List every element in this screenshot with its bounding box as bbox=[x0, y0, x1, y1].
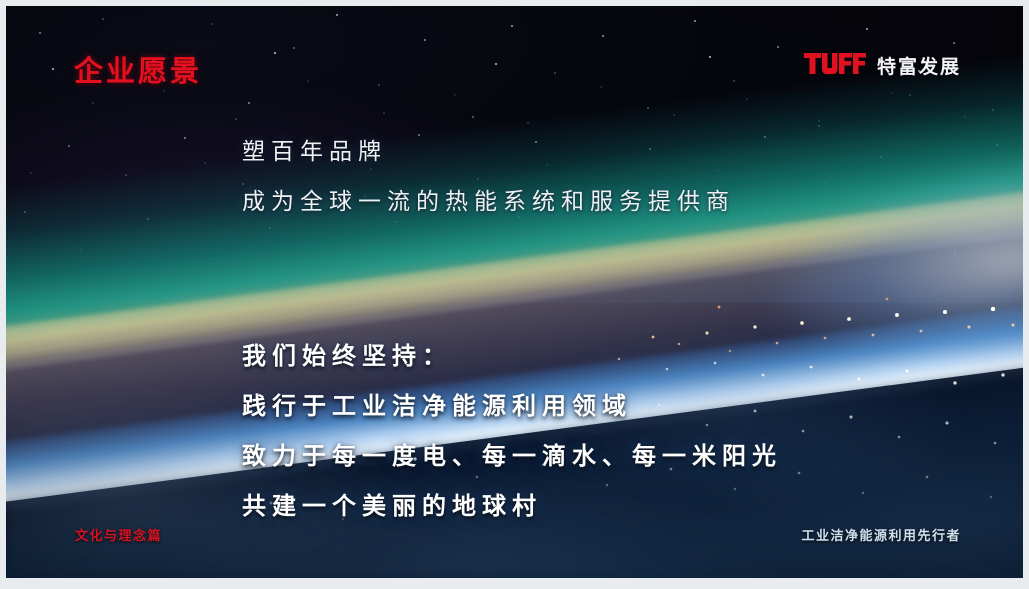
commitment-statement-block: 我们始终坚持： 践行于工业洁净能源利用领域 致力于每一度电、每一滴水、每一米阳光… bbox=[242, 336, 782, 521]
brand-logo: 特富发展 bbox=[804, 52, 961, 79]
section-label: 文化与理念篇 bbox=[75, 525, 162, 544]
commitment-line: 致力于每一度电、每一滴水、每一米阳光 bbox=[242, 436, 782, 471]
vision-statement-block: 塑百年品牌 成为全球一流的热能系统和服务提供商 bbox=[242, 132, 735, 216]
page-title: 企业愿景 bbox=[74, 48, 202, 90]
commitment-line: 共建一个美丽的地球村 bbox=[242, 486, 782, 521]
vision-line: 塑百年品牌 bbox=[242, 132, 735, 166]
slide-content: 企业愿景 bbox=[6, 6, 1023, 578]
company-name-cn: 特富发展 bbox=[877, 52, 961, 79]
slide-tagline: 工业洁净能源利用先行者 bbox=[801, 525, 961, 544]
tuff-logo-icon bbox=[804, 53, 866, 79]
presentation-slide: 企业愿景 bbox=[6, 6, 1023, 578]
commitment-line: 我们始终坚持： bbox=[242, 336, 782, 371]
vision-line: 成为全球一流的热能系统和服务提供商 bbox=[242, 182, 735, 216]
commitment-line: 践行于工业洁净能源利用领域 bbox=[242, 386, 782, 421]
slide-frame: 企业愿景 bbox=[0, 0, 1029, 589]
